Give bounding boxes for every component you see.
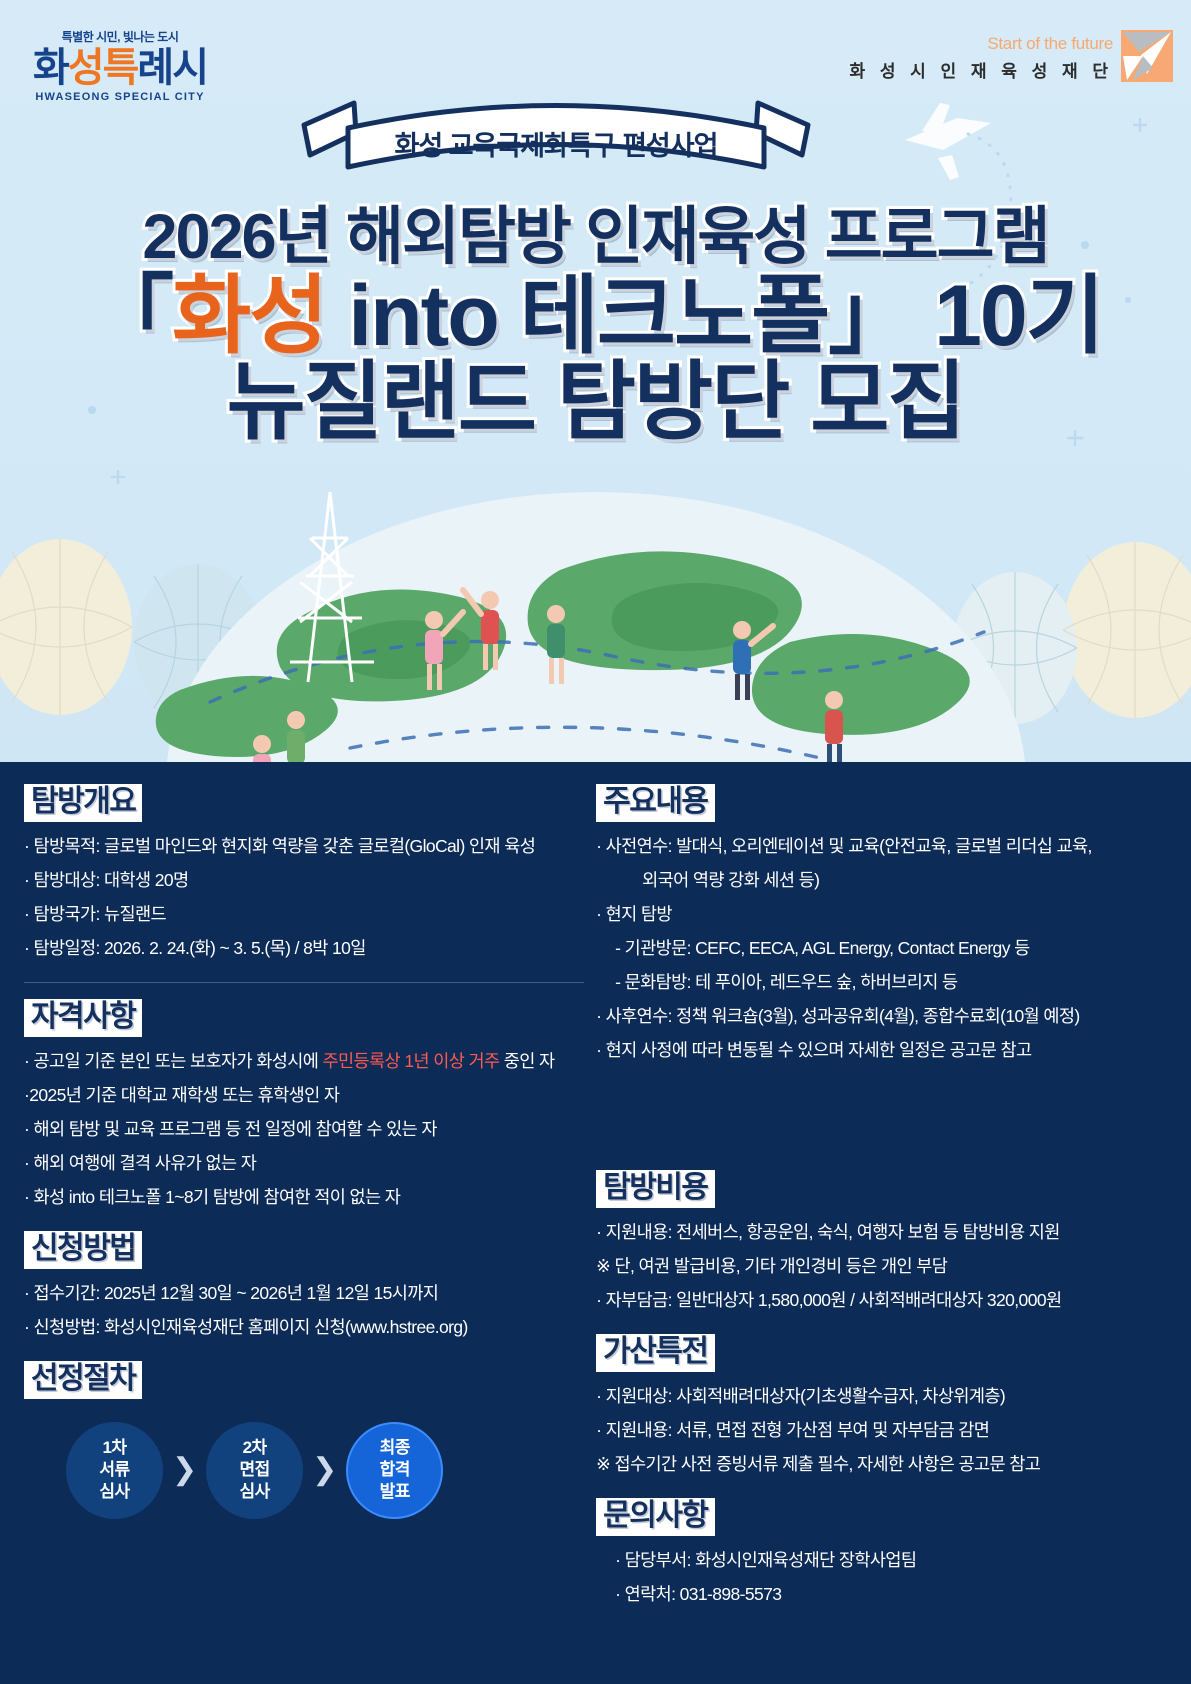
hero-section: 특별한 시민, 빛나는 도시 화성특례시 HWASEONG SPECIAL CI… <box>0 0 1191 762</box>
title-line-1: 2026년 해외탐방 인재육성 프로그램 <box>0 205 1191 269</box>
section-cost: 탐방비용 · 지원내용: 전세버스, 항공운임, 숙식, 여행자 보험 등 탐방… <box>596 1170 1173 1314</box>
foundation-logo: Start of the future 화 성 시 인 재 육 성 재 단 <box>849 30 1173 82</box>
qualification-item: · 화성 into 테크노폴 1~8기 탐방에 참여한 적이 없는 자 <box>24 1184 584 1211</box>
title-line-2: 「화성 into 테크노폴」 10기 <box>0 273 1191 361</box>
title-highlight-hwaseong: 화성 <box>172 268 326 364</box>
process-heading: 선정절차 <box>24 1361 142 1399</box>
process-step-2-line1: 2차 <box>243 1437 267 1459</box>
title-block: 2026년 해외탐방 인재육성 프로그램 「화성 into 테크노폴」 10기 … <box>0 205 1191 447</box>
title-line-2-rest: into 테크노폴」 10기 <box>326 268 1103 364</box>
main-content-item: 외국어 역량 강화 세션 등) <box>596 867 1173 894</box>
divider <box>24 982 584 983</box>
overview-item: · 탐방목적: 글로벌 마인드와 현지화 역량을 갖춘 글로컬(GloCal) … <box>24 833 584 860</box>
process-step-2-line3: 심사 <box>240 1481 270 1503</box>
chevron-right-icon: ❯ <box>172 1455 197 1485</box>
overview-item: · 탐방일정: 2026. 2. 24.(화) ~ 3. 5.(목) / 8박 … <box>24 935 584 962</box>
bonus-heading: 가산특전 <box>596 1334 714 1372</box>
qualification-item-post: 중인 자 <box>499 1051 554 1071</box>
title-bracket-open: 「 <box>88 268 172 364</box>
qualification-heading: 자격사항 <box>24 999 142 1037</box>
section-qualification: 자격사항 · 공고일 기준 본인 또는 보호자가 화성시에 주민등록상 1년 이… <box>24 999 584 1211</box>
qualification-item: ·2025년 기준 대학교 재학생 또는 휴학생인 자 <box>24 1082 584 1109</box>
section-process: 선정절차 1차 서류 심사 ❯ 2차 면접 심사 ❯ <box>24 1361 584 1519</box>
overview-heading: 탐방개요 <box>24 784 142 822</box>
contact-phone[interactable]: · 연락처: 031-898-5573 <box>596 1581 1173 1608</box>
foundation-slogan: Start of the future <box>849 34 1113 54</box>
right-column: 주요내용 · 사전연수: 발대식, 오리엔테이션 및 교육(안전교육, 글로벌 … <box>584 784 1173 1628</box>
process-flow: 1차 서류 심사 ❯ 2차 면접 심사 ❯ 최종 합 <box>24 1422 584 1519</box>
overview-item: · 탐방대상: 대학생 20명 <box>24 867 584 894</box>
title-line-3: 뉴질랜드 탐방단 모집 <box>0 359 1191 447</box>
section-contact: 문의사항 · 담당부서: 화성시인재육성재단 장학사업팀 · 연락처: 031-… <box>596 1498 1173 1608</box>
bonus-item: · 지원내용: 서류, 면접 전형 가산점 부여 및 자부담금 감면 <box>596 1417 1173 1444</box>
ribbon-banner: 화성 교육국제화특구 편성사업 <box>296 95 816 187</box>
paper-plane-icon <box>1121 30 1173 82</box>
apply-heading: 신청방법 <box>24 1231 142 1269</box>
content-section: 탐방개요 · 탐방목적: 글로벌 마인드와 현지화 역량을 갖춘 글로컬(Glo… <box>0 762 1191 1684</box>
poster-root: 특별한 시민, 빛나는 도시 화성특례시 HWASEONG SPECIAL CI… <box>0 0 1191 1684</box>
cost-item: · 지원내용: 전세버스, 항공운임, 숙식, 여행자 보험 등 탐방비용 지원 <box>596 1219 1173 1246</box>
main-content-item: · 사전연수: 발대식, 오리엔테이션 및 교육(안전교육, 글로벌 리더십 교… <box>596 833 1173 860</box>
qualification-item-residency: · 공고일 기준 본인 또는 보호자가 화성시에 주민등록상 1년 이상 거주 … <box>24 1048 584 1075</box>
process-step-1: 1차 서류 심사 <box>66 1422 163 1519</box>
ribbon-text: 화성 교육국제화특구 편성사업 <box>395 131 718 161</box>
process-step-3-line3: 발표 <box>380 1481 410 1503</box>
city-logo-mark-2: 성특 <box>68 46 138 90</box>
left-column: 탐방개요 · 탐방목적: 글로벌 마인드와 현지화 역량을 갖춘 글로컬(Glo… <box>18 784 584 1628</box>
spacer <box>596 1084 1173 1170</box>
process-step-1-line3: 심사 <box>99 1481 129 1503</box>
main-content-note: · 현지 사정에 따라 변동될 수 있으며 자세한 일정은 공고문 참고 <box>596 1037 1173 1064</box>
overview-item: · 탐방국가: 뉴질랜드 <box>24 901 584 928</box>
process-step-3-line2: 합격 <box>380 1459 410 1481</box>
chevron-right-icon: ❯ <box>312 1455 337 1485</box>
process-step-3-line1: 최종 <box>380 1437 410 1459</box>
section-main-content: 주요내용 · 사전연수: 발대식, 오리엔테이션 및 교육(안전교육, 글로벌 … <box>596 784 1173 1064</box>
process-step-3: 최종 합격 발표 <box>346 1422 443 1519</box>
city-logo-mark-3: 례시 <box>137 46 207 90</box>
qualification-item-highlight: 주민등록상 1년 이상 거주 <box>323 1051 500 1071</box>
qualification-item: · 해외 여행에 결격 사유가 없는 자 <box>24 1150 584 1177</box>
main-content-item: · 사후연수: 정책 워크숍(3월), 성과공유회(4월), 종합수료회(10월… <box>596 1003 1173 1030</box>
cost-item: · 자부담금: 일반대상자 1,580,000원 / 사회적배려대상자 320,… <box>596 1287 1173 1314</box>
city-logo-mark-1: 화 <box>33 46 68 90</box>
scenery-illustration <box>0 452 1191 762</box>
section-overview: 탐방개요 · 탐방목적: 글로벌 마인드와 현지화 역량을 갖춘 글로컬(Glo… <box>24 784 584 962</box>
qualification-item-pre: · 공고일 기준 본인 또는 보호자가 화성시에 <box>24 1051 323 1071</box>
bonus-item: · 지원대상: 사회적배려대상자(기초생활수급자, 차상위계층) <box>596 1383 1173 1410</box>
cost-note: ※ 단, 여권 발급비용, 기타 개인경비 등은 개인 부담 <box>596 1253 1173 1280</box>
apply-item-website[interactable]: · 신청방법: 화성시인재육성재단 홈페이지 신청(www.hstree.org… <box>24 1314 584 1341</box>
city-logo-english: HWASEONG SPECIAL CITY <box>30 91 210 103</box>
process-step-1-line2: 서류 <box>99 1459 129 1481</box>
city-logo-mark: 화성특례시 <box>30 47 210 89</box>
main-content-item: - 문화탐방: 테 푸이아, 레드우드 숲, 하버브리지 등 <box>596 969 1173 996</box>
bonus-note: ※ 접수기간 사전 증빙서류 제출 필수, 자세한 사항은 공고문 참고 <box>596 1451 1173 1478</box>
process-step-1-line1: 1차 <box>102 1437 126 1459</box>
contact-department: · 담당부서: 화성시인재육성재단 장학사업팀 <box>596 1547 1173 1574</box>
process-step-2: 2차 면접 심사 <box>206 1422 303 1519</box>
qualification-item: · 해외 탐방 및 교육 프로그램 등 전 일정에 참여할 수 있는 자 <box>24 1116 584 1143</box>
main-content-item: - 기관방문: CEFC, EECA, AGL Energy, Contact … <box>596 935 1173 962</box>
main-content-item: · 현지 탐방 <box>596 901 1173 928</box>
foundation-name: 화 성 시 인 재 육 성 재 단 <box>849 57 1113 82</box>
process-step-2-line2: 면접 <box>240 1459 270 1481</box>
section-bonus: 가산특전 · 지원대상: 사회적배려대상자(기초생활수급자, 차상위계층) · … <box>596 1334 1173 1478</box>
apply-item: · 접수기간: 2025년 12월 30일 ~ 2026년 1월 12일 15시… <box>24 1280 584 1307</box>
city-logo: 특별한 시민, 빛나는 도시 화성특례시 HWASEONG SPECIAL CI… <box>30 28 210 103</box>
contact-heading: 문의사항 <box>596 1498 714 1536</box>
city-logo-tagline: 특별한 시민, 빛나는 도시 <box>30 28 210 45</box>
section-apply: 신청방법 · 접수기간: 2025년 12월 30일 ~ 2026년 1월 12… <box>24 1231 584 1341</box>
main-content-heading: 주요내용 <box>596 784 714 822</box>
cost-heading: 탐방비용 <box>596 1170 714 1208</box>
